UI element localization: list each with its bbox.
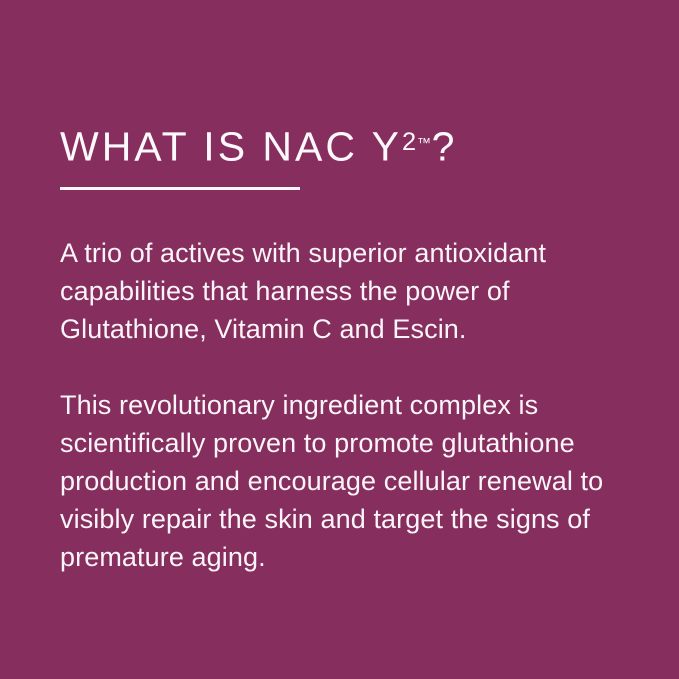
panel-content: WHAT IS NAC Y2™? A trio of actives with … xyxy=(60,118,638,576)
title-underline-rule xyxy=(60,187,300,190)
page-title: WHAT IS NAC Y2™? xyxy=(60,118,638,171)
body-copy: A trio of actives with superior antioxid… xyxy=(60,234,638,576)
page-title-prefix: WHAT IS NAC Y xyxy=(60,124,402,170)
paragraph-1: A trio of actives with superior antioxid… xyxy=(60,234,638,348)
page-title-suffix: ? xyxy=(432,124,455,170)
product-info-panel: WHAT IS NAC Y2™? A trio of actives with … xyxy=(0,0,679,679)
trademark-symbol: ™ xyxy=(417,134,431,150)
page-title-superscript: 2 xyxy=(402,128,417,156)
paragraph-2: This revolutionary ingredient complex is… xyxy=(60,386,638,576)
